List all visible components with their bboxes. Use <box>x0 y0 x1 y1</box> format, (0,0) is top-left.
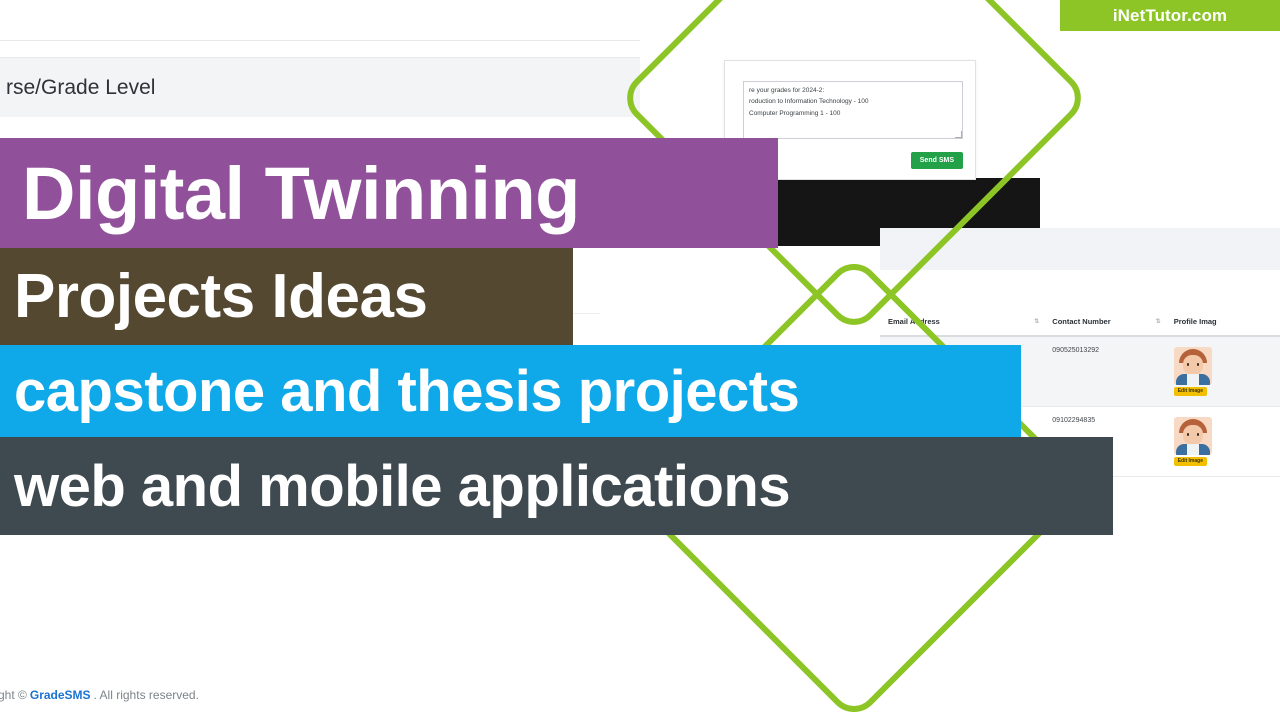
headline-band-4: web and mobile applications <box>0 437 1113 535</box>
headline-band-1: Digital Twinning <box>0 138 778 248</box>
headline-line-2: Projects Ideas <box>0 261 427 332</box>
edit-image-button[interactable]: Edit Image <box>1174 387 1207 396</box>
sort-icon[interactable]: ⇅ <box>1156 319 1160 325</box>
table-header-row: Email Address ⇅ Contact Number ⇅ Profile… <box>880 308 1280 336</box>
avatar <box>1174 347 1212 385</box>
cell-contact: 090525013292 <box>1044 336 1165 407</box>
avatar-collar <box>1187 374 1199 385</box>
cell-profile-image: Edit Image <box>1166 407 1280 477</box>
table-window-toolbar <box>880 270 1280 309</box>
column-header-profile-image-label: Profile Imag <box>1174 317 1217 326</box>
page-header: rse/Grade Level <box>0 57 640 119</box>
cell-profile-image: Edit Image <box>1166 336 1280 407</box>
headline-band-2: Projects Ideas <box>0 248 573 345</box>
avatar-face <box>1183 355 1203 375</box>
sort-icon[interactable]: ⇅ <box>1034 319 1038 325</box>
column-header-contact-label: Contact Number <box>1052 317 1110 326</box>
avatar-face <box>1183 425 1203 445</box>
avatar-eye-right <box>1197 363 1200 366</box>
avatar-collar <box>1187 444 1199 455</box>
slide-canvas: rse/Grade Level ogy ght © GradeSMS . All… <box>0 0 1280 720</box>
headline-band-3: capstone and thesis projects <box>0 345 1021 437</box>
headline-line-3: capstone and thesis projects <box>0 358 799 425</box>
headline-line-1: Digital Twinning <box>0 151 580 236</box>
avatar-eye-left <box>1187 433 1190 436</box>
column-header-contact[interactable]: Contact Number ⇅ <box>1044 308 1165 336</box>
footer-suffix: . All rights reserved. <box>94 688 199 702</box>
headline-line-4: web and mobile applications <box>0 453 790 520</box>
avatar-eye-left <box>1187 363 1190 366</box>
page-title: rse/Grade Level <box>0 76 155 100</box>
brand-badge-label: iNetTutor.com <box>1113 6 1227 26</box>
footer-brand: GradeSMS <box>30 688 91 702</box>
brand-badge: iNetTutor.com <box>1060 0 1280 31</box>
footer-copyright: ght © GradeSMS . All rights reserved. <box>0 682 640 708</box>
avatar-eye-right <box>1197 433 1200 436</box>
footer-prefix: ght © <box>0 688 27 702</box>
avatar <box>1174 417 1212 455</box>
edit-image-button[interactable]: Edit Image <box>1174 457 1207 466</box>
column-header-profile-image[interactable]: Profile Imag <box>1166 308 1280 336</box>
window-top-bar <box>0 0 640 41</box>
